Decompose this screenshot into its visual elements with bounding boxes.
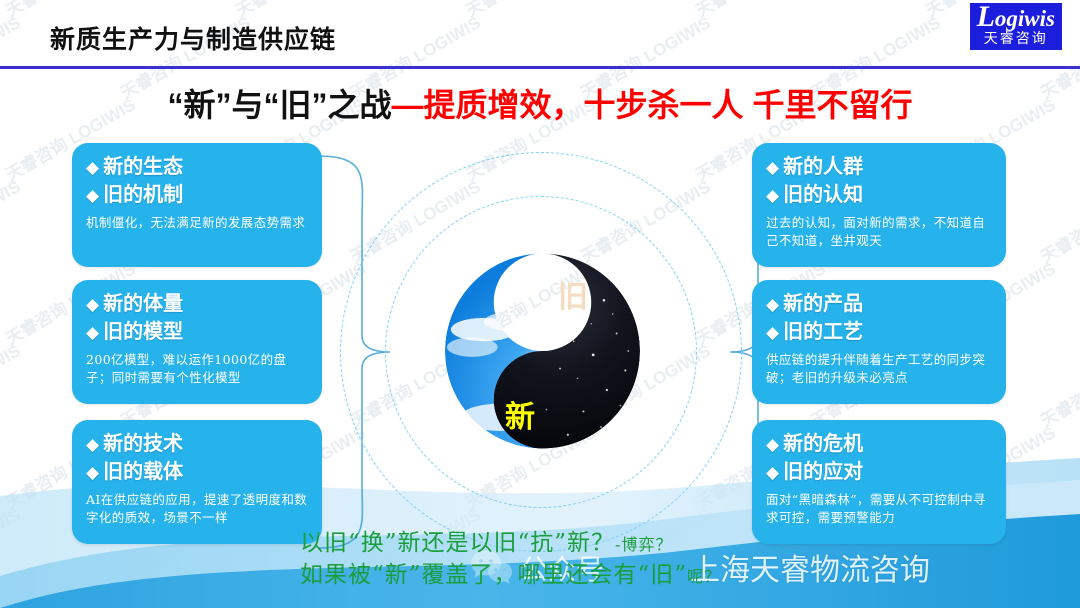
footer-line-2: 如果被“新”覆盖了，哪里还会有“旧”呢？ (300, 560, 721, 592)
footer-line-1: 以旧“换”新还是以旧“抗”新？-博弈？ (300, 528, 721, 560)
card-left-1-line1: ◆新的生态 (86, 153, 310, 181)
card-left-2-desc: 200亿模型，难以运作1000亿的盘子；同时需要有个性化模型 (86, 351, 310, 387)
center-graphic: 旧 新 (330, 148, 750, 552)
page-title: 新质生产力与制造供应链 (50, 20, 336, 56)
publisher-watermark: 上海天睿物流咨询 (690, 555, 930, 587)
card-right-3-desc: 面对“黑暗森林”，需要从不可控制中寻求可控，需要预警能力 (766, 491, 994, 527)
diamond-icon: ◆ (86, 435, 99, 455)
card-right-3-line1: ◆新的危机 (766, 430, 994, 458)
logo-initial: L (977, 0, 995, 33)
headline-red: —提质增效，十步杀一人 千里不留行 (392, 87, 913, 123)
card-left-2-line1: ◆新的体量 (86, 290, 310, 318)
card-left-1-line2: ◆旧的机制 (86, 181, 310, 209)
card-left-3-desc: AI在供应链的应用，提速了透明度和数字化的质效，场景不一样 (86, 491, 310, 527)
watermark-tile: 天睿咨询 LOGIWIS (230, 0, 369, 22)
card-right-3-line2: ◆旧的应对 (766, 458, 994, 486)
card-left-1-desc: 机制僵化，无法满足新的发展态势需求 (86, 214, 310, 232)
card-right-1-line1: ◆新的人群 (766, 153, 994, 181)
diamond-icon: ◆ (766, 323, 779, 343)
card-left-1[interactable]: ◆新的生态 ◆旧的机制 机制僵化，无法满足新的发展态势需求 (72, 143, 322, 267)
card-right-2-line2: ◆旧的工艺 (766, 318, 994, 346)
card-right-1-line2: ◆旧的认知 (766, 181, 994, 209)
card-right-2[interactable]: ◆新的产品 ◆旧的工艺 供应链的提升伴随着生产工艺的同步突破；老旧的升级未必亮点 (752, 280, 1006, 404)
footer-green-text: 以旧“换”新还是以旧“抗”新？-博弈？ 如果被“新”覆盖了，哪里还会有“旧”呢？ (300, 528, 721, 592)
watermark-tile: 天睿咨询 LOGIWIS (0, 337, 24, 432)
card-left-3-line2: ◆旧的载体 (86, 458, 310, 486)
yinyang-new-label: 新 (505, 403, 535, 433)
card-right-2-line1: ◆新的产品 (766, 290, 994, 318)
logo-rest: ogiwis (995, 6, 1055, 31)
yin-yang-symbol (445, 253, 640, 449)
watermark-tile: 天睿咨询 LOGIWIS (0, 173, 24, 268)
logo-subtitle: 天睿咨询 (977, 31, 1055, 47)
headline-black: “新”与“旧”之战 (168, 87, 392, 123)
card-left-3-line1: ◆新的技术 (86, 430, 310, 458)
watermark-tile: 天睿咨询 LOGIWIS (460, 0, 599, 22)
card-right-1-desc: 过去的认知，面对新的需求，不知道自己不知道，坐井观天 (766, 214, 994, 250)
watermark-tile: 天睿咨询 LOGIWIS (1035, 173, 1080, 268)
diamond-icon: ◆ (86, 158, 99, 178)
slide-canvas: 天睿咨询 LOGIWIS天睿咨询 LOGIWIS天睿咨询 LOGIWIS天睿咨询… (0, 0, 1080, 608)
header-divider (0, 66, 1080, 69)
watermark-tile: 天睿咨询 LOGIWIS (690, 0, 829, 22)
diamond-icon: ◆ (766, 435, 779, 455)
card-right-1[interactable]: ◆新的人群 ◆旧的认知 过去的认知，面对新的需求，不知道自己不知道，坐井观天 (752, 143, 1006, 267)
diamond-icon: ◆ (766, 463, 779, 483)
logiwis-logo: Logiwis 天睿咨询 (970, 3, 1062, 50)
diamond-icon: ◆ (766, 158, 779, 178)
card-left-3[interactable]: ◆新的技术 ◆旧的载体 AI在供应链的应用，提速了透明度和数字化的质效，场景不一… (72, 420, 322, 544)
diamond-icon: ◆ (86, 323, 99, 343)
card-right-3[interactable]: ◆新的危机 ◆旧的应对 面对“黑暗森林”，需要从不可控制中寻求可控，需要预警能力 (752, 420, 1006, 544)
logo-wordmark: Logiwis (977, 5, 1055, 30)
diamond-icon: ◆ (86, 463, 99, 483)
diamond-icon: ◆ (86, 295, 99, 315)
diamond-icon: ◆ (86, 186, 99, 206)
watermark-tile: 天睿咨询 LOGIWIS (1035, 337, 1080, 432)
diamond-icon: ◆ (766, 186, 779, 206)
slide-headline: “新”与“旧”之战—提质增效，十步杀一人 千里不留行 (0, 80, 1080, 126)
card-right-2-desc: 供应链的提升伴随着生产工艺的同步突破；老旧的升级未必亮点 (766, 351, 994, 387)
card-left-2-line2: ◆旧的模型 (86, 318, 310, 346)
yinyang-old-label: 旧 (558, 283, 588, 313)
card-left-2[interactable]: ◆新的体量 ◆旧的模型 200亿模型，难以运作1000亿的盘子；同时需要有个性化… (72, 280, 322, 404)
watermark-tile: 天睿咨询 LOGIWIS (0, 0, 139, 22)
diamond-icon: ◆ (766, 295, 779, 315)
